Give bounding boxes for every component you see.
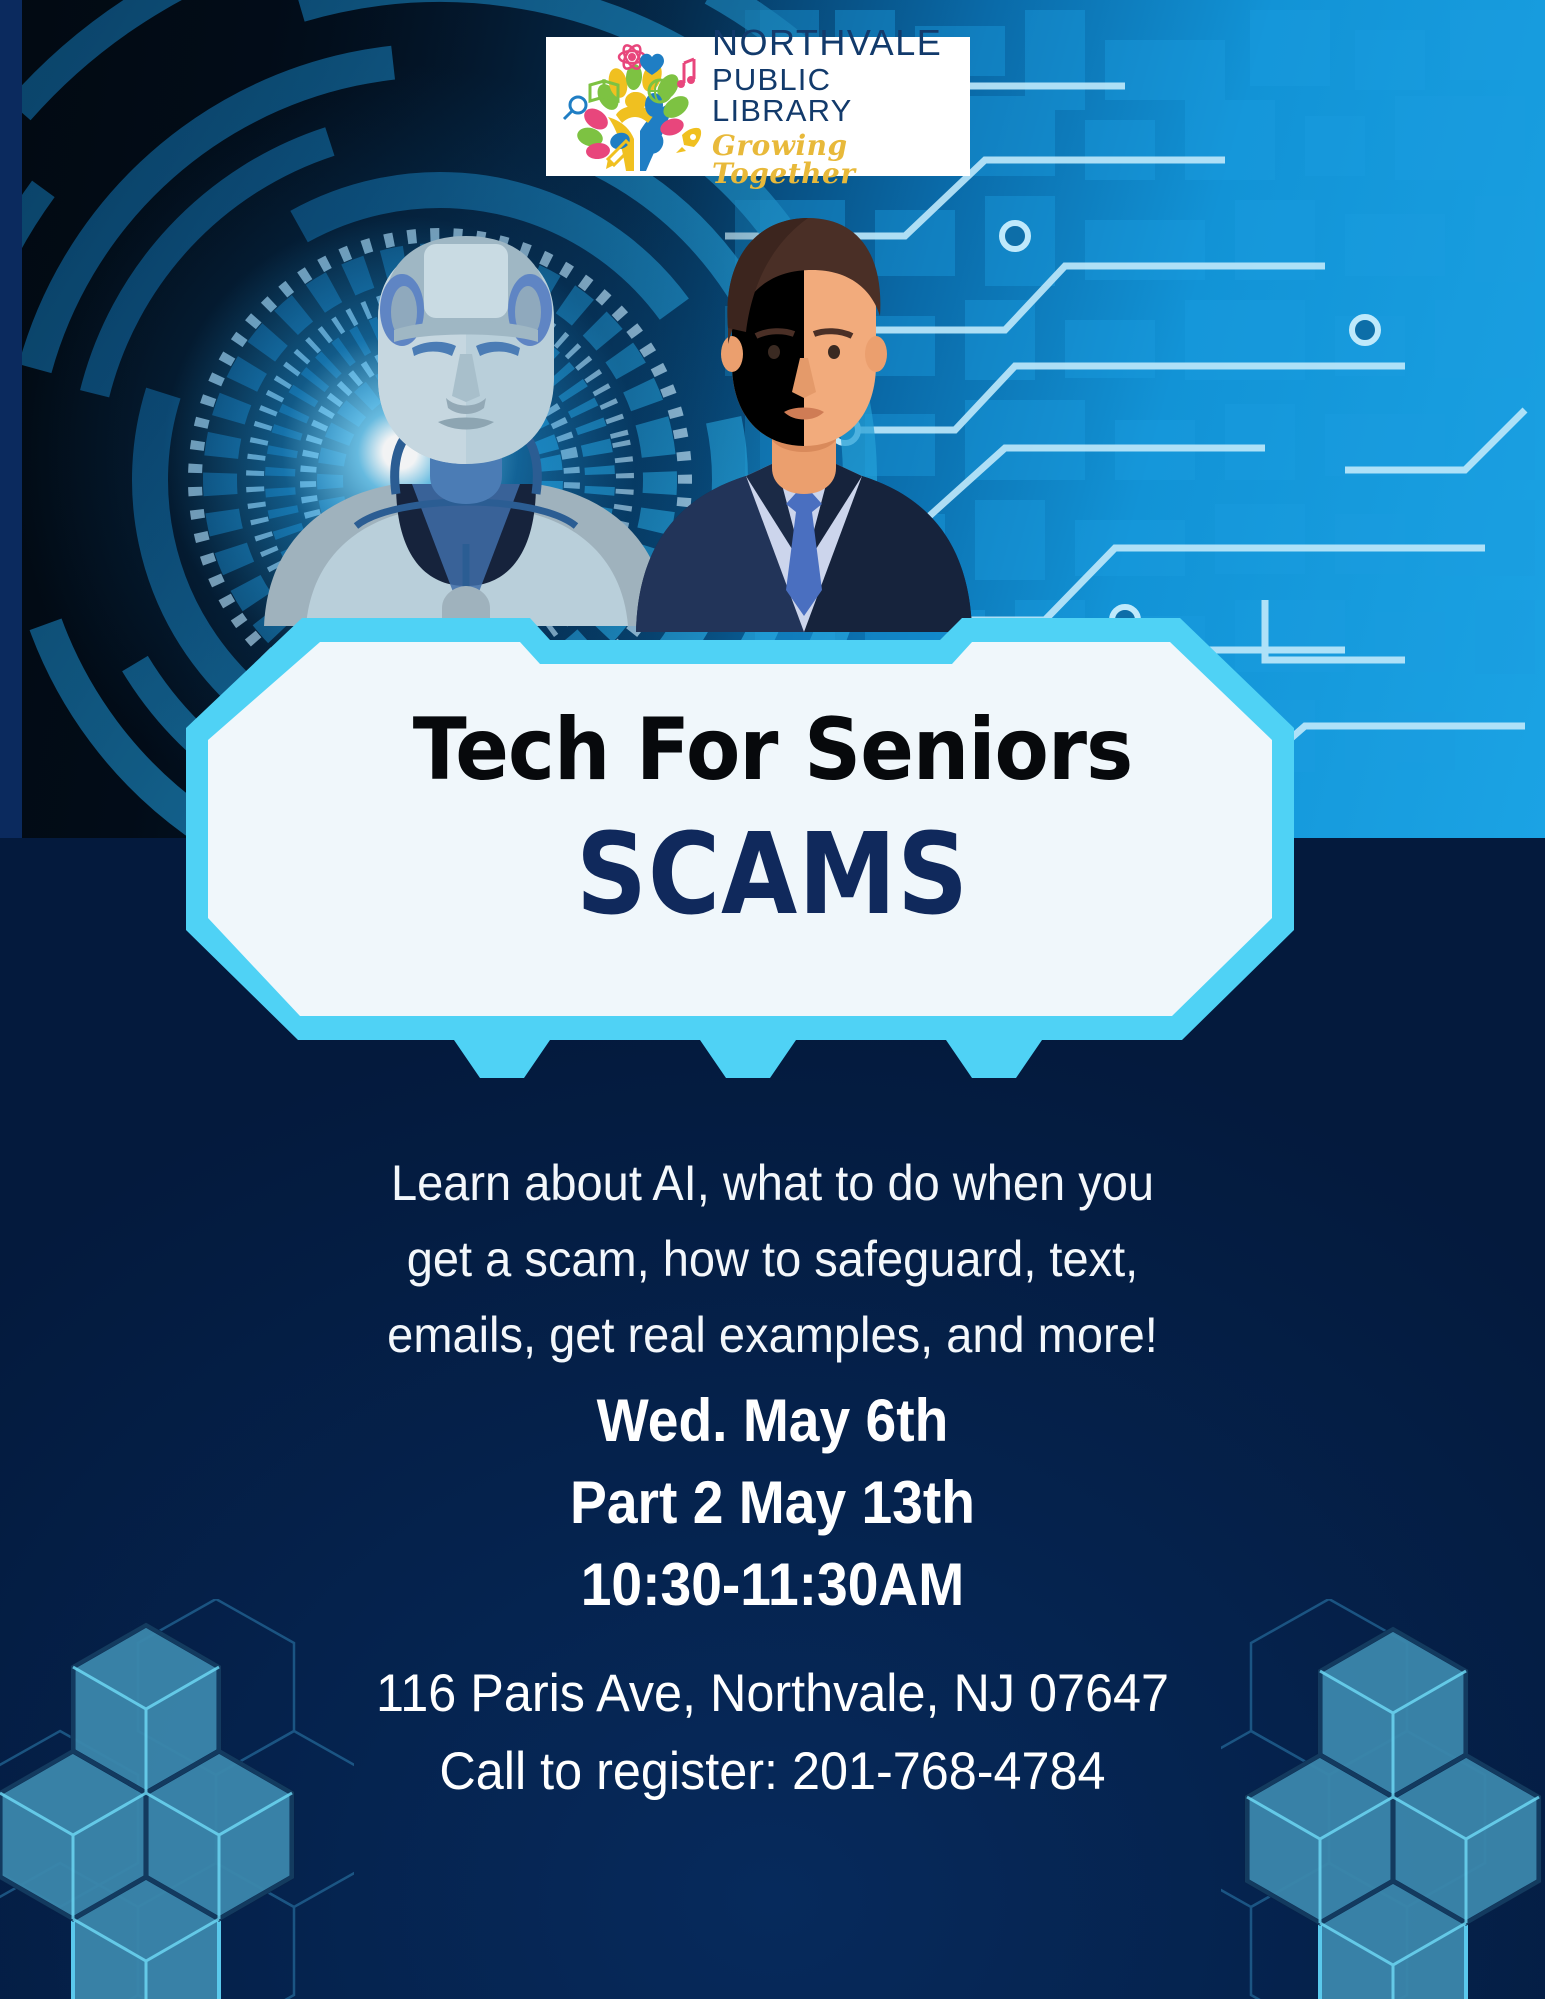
description-line-1: Learn about AI, what to do when you xyxy=(46,1145,1498,1221)
description-line-3: emails, get real examples, and more! xyxy=(46,1297,1498,1373)
logo-text-block: NORTHVALE PUBLIC LIBRARY Growing Togethe… xyxy=(708,25,962,188)
businessman-illustration xyxy=(636,212,972,632)
logo-tagline: Growing Together xyxy=(712,132,962,188)
hexagon-cluster-left xyxy=(0,1599,354,1999)
page-title: Tech For Seniors xyxy=(62,700,1483,800)
schedule-line-2: Part 2 May 13th xyxy=(62,1462,1483,1544)
ai-robot-illustration xyxy=(246,226,686,626)
description-block: Learn about AI, what to do when you get … xyxy=(46,1145,1498,1373)
schedule-block: Wed. May 6th Part 2 May 13th 10:30-11:30… xyxy=(62,1380,1483,1626)
magnifier-icon xyxy=(564,97,586,119)
left-edge-strip xyxy=(0,0,22,838)
flyer-poster: NORTHVALE PUBLIC LIBRARY Growing Togethe… xyxy=(0,0,1545,1999)
schedule-line-1: Wed. May 6th xyxy=(62,1380,1483,1462)
hexagon-cluster-right xyxy=(1221,1599,1545,1999)
music-note-icon xyxy=(677,59,695,88)
page-subtitle: SCAMS xyxy=(93,810,1453,940)
library-tree-logo-icon xyxy=(556,43,708,171)
logo-line-public-library: PUBLIC LIBRARY xyxy=(712,64,962,126)
library-logo-card: NORTHVALE PUBLIC LIBRARY Growing Togethe… xyxy=(546,37,970,176)
description-line-2: get a scam, how to safeguard, text, xyxy=(46,1221,1498,1297)
logo-line-northvale: NORTHVALE xyxy=(712,25,962,61)
